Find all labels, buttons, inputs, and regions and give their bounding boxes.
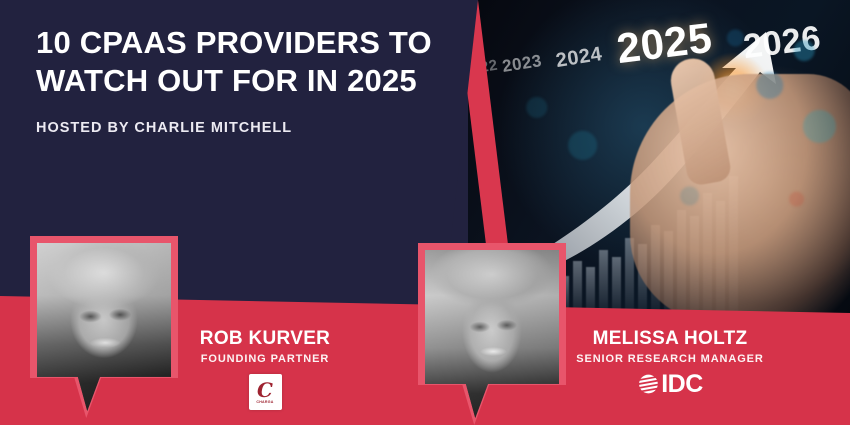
pointing-finger [667,55,732,187]
speaker-info-rob: ROB KURVER FOUNDING PARTNER C CHARGA [180,328,350,410]
hand-silhouette [630,74,850,316]
chart-bar [690,216,699,316]
year-label-2025: 2025 [614,14,715,73]
globe-icon [637,373,659,395]
chart-bar [703,193,712,316]
chart-bar [729,176,738,316]
chart-bar [612,257,621,316]
arrow-glow [696,52,770,126]
avatar-melissa-holtz [425,250,559,425]
speaker-name-melissa: MELISSA HOLTZ [568,328,772,350]
speaker-role-rob: FOUNDING PARTNER [180,353,350,365]
speaker-role-melissa: SENIOR RESEARCH MANAGER [568,353,772,365]
avatar-rob-kurver [37,243,171,418]
chart-bar [638,244,647,316]
chart-bar [677,210,686,316]
company-logo-idc: IDC [568,373,772,395]
speaker-info-melissa: MELISSA HOLTZ SENIOR RESEARCH MANAGER ID… [568,328,772,395]
chart-bar [716,201,725,316]
chart-bar [599,250,608,316]
company-logo-rob: C CHARGA [180,374,350,410]
photo-frame-inner [425,250,559,425]
title-block: 10 CPAAS PROVIDERS TO WATCH OUT FOR IN 2… [36,24,456,136]
chart-bar [625,238,634,316]
speaker-name-rob: ROB KURVER [180,328,350,350]
speaker-photo-frame-rob [30,236,178,418]
logo-wordmark: CHARGA [256,400,273,404]
year-labels: 2022 2023 2024 2025 2026 [468,10,850,90]
upward-arrow-icon [508,28,808,278]
chart-bar [651,225,660,316]
year-label-2024: 2024 [554,43,604,73]
webinar-promo-banner: 2022 2023 2024 2025 2026 10 CPAAS PROVID… [0,0,850,425]
speaker-photo-frame-melissa [418,243,566,425]
photo-frame-inner [37,243,171,418]
year-label-2023: 2023 [501,51,543,77]
idc-wordmark: IDC [661,373,703,395]
logo-c-mark: C [257,381,273,399]
year-label-2026: 2026 [741,19,823,67]
chart-bar [664,231,673,316]
host-subtitle: HOSTED BY CHARLIE MITCHELL [36,120,456,136]
page-title: 10 CPAAS PROVIDERS TO WATCH OUT FOR IN 2… [36,24,456,100]
charga-logo-tile: C CHARGA [249,374,282,410]
